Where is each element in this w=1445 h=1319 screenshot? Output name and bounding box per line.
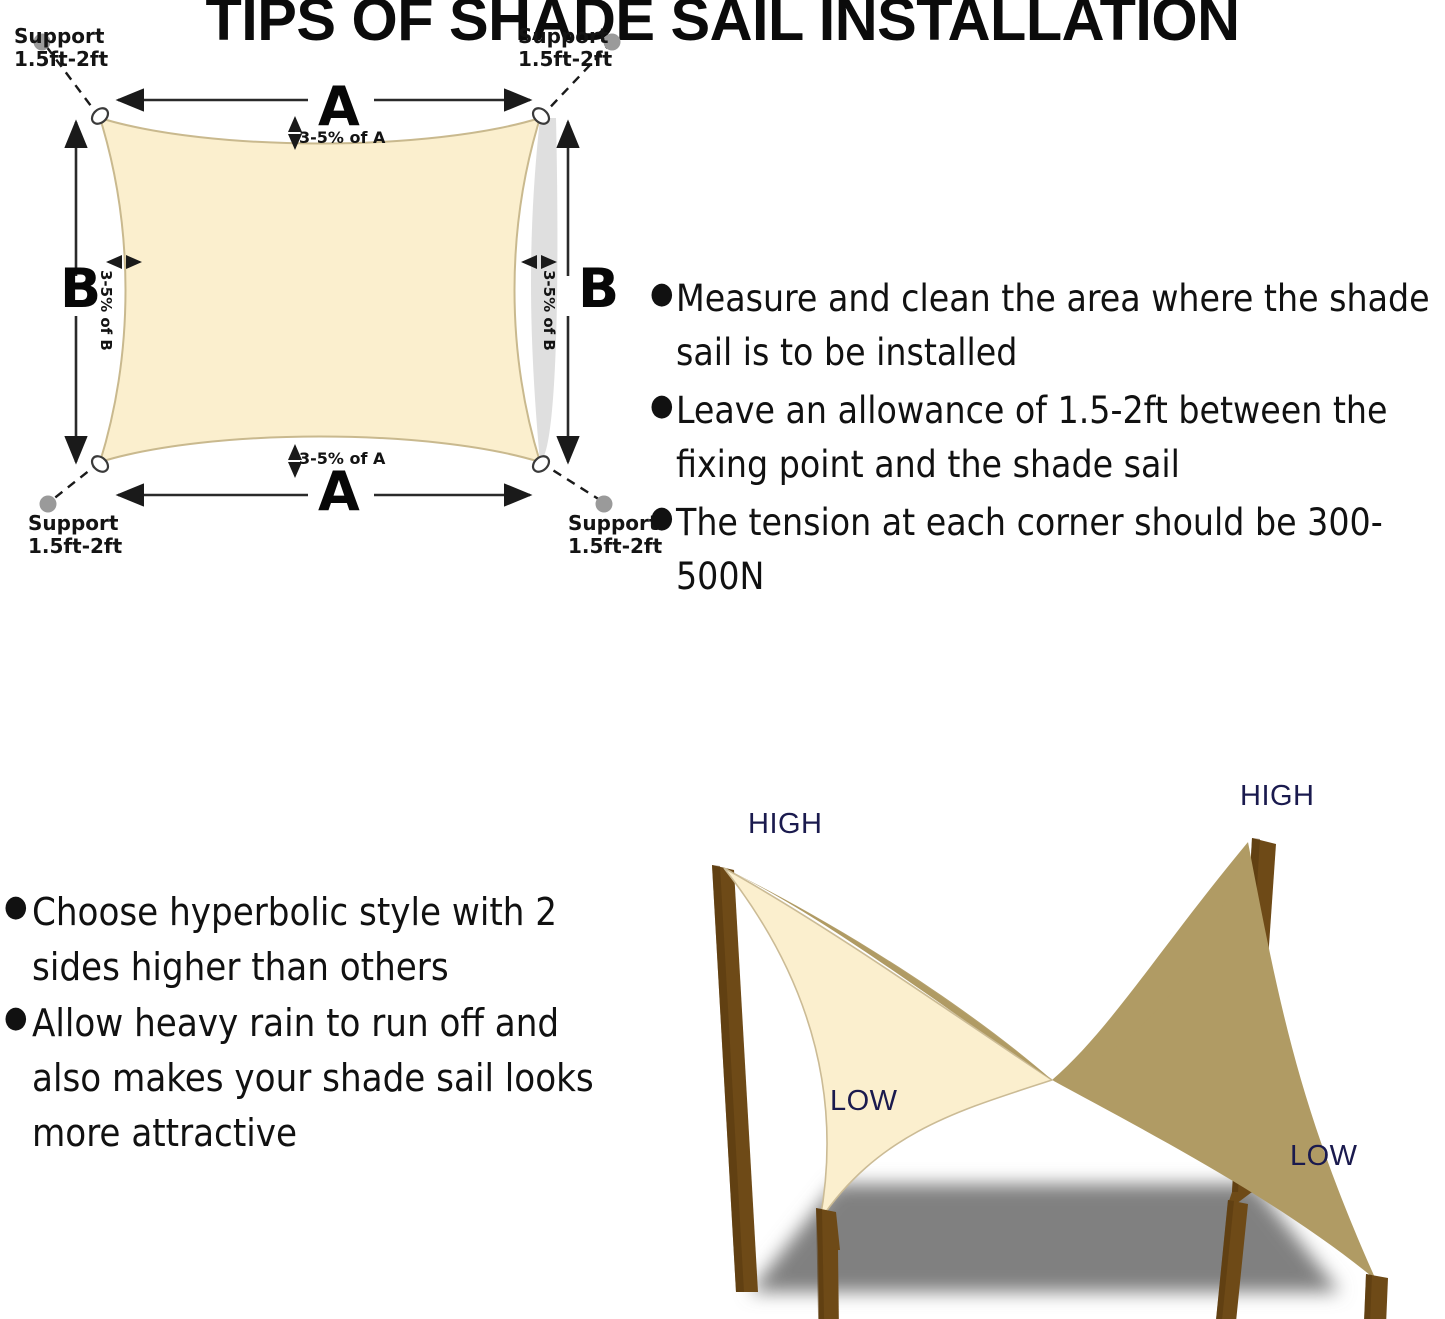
hyperbolic-sail-diagram: HIGH HIGH LOW LOW	[640, 780, 1445, 1319]
dimension-letter-b-left: B	[60, 262, 101, 316]
list-item-label: Measure and clean the area where the sha…	[676, 272, 1445, 380]
bullet-dot-icon: ●	[650, 272, 676, 316]
curve-callout-left: 3-5% of B	[97, 270, 115, 351]
support-label-line2: 1.5ft-2ft	[14, 48, 108, 71]
curve-callout-right: 3-5% of B	[540, 270, 558, 351]
curve-callout-bottom: 3-5% of A	[299, 449, 385, 468]
list-item: ● The tension at each corner should be 3…	[650, 496, 1445, 604]
dimension-letter-a-top: A	[318, 80, 360, 134]
support-label-top-right: Support 1.5ft-2ft	[518, 25, 612, 71]
bullet-dot-icon: ●	[4, 996, 32, 1040]
label-high-left: HIGH	[748, 808, 823, 841]
list-item: ● Leave an allowance of 1.5-2ft between …	[650, 384, 1445, 492]
curve-callout-top: 3-5% of A	[299, 128, 385, 147]
post-low-right	[1360, 1274, 1388, 1319]
rectangle-sail-diagram: Support 1.5ft-2ft Support 1.5ft-2ft Supp…	[0, 0, 660, 580]
label-low-left: LOW	[830, 1085, 898, 1118]
support-label-top-left: Support 1.5ft-2ft	[14, 25, 108, 71]
list-item: ● Measure and clean the area where the s…	[650, 272, 1445, 380]
support-label-line1: Support	[28, 512, 122, 535]
list-item: ● Allow heavy rain to run off and also m…	[4, 996, 624, 1160]
label-low-right: LOW	[1290, 1140, 1358, 1173]
bullet-dot-icon: ●	[650, 496, 676, 540]
label-high-right: HIGH	[1240, 780, 1315, 813]
list-item-label: Allow heavy rain to run off and also mak…	[32, 996, 624, 1160]
support-label-line1: Support	[518, 25, 612, 48]
support-label-bottom-left: Support 1.5ft-2ft	[28, 512, 122, 558]
support-label-line1: Support	[14, 25, 108, 48]
support-point-bottom-right	[596, 496, 613, 513]
bullet-dot-icon: ●	[650, 384, 676, 428]
support-label-line2: 1.5ft-2ft	[568, 535, 662, 558]
list-item-label: The tension at each corner should be 300…	[676, 496, 1445, 604]
list-item: ● Choose hyperbolic style with 2 sides h…	[4, 885, 624, 994]
bullet-dot-icon: ●	[4, 885, 32, 929]
style-tips-list: ● Choose hyperbolic style with 2 sides h…	[4, 885, 624, 1163]
support-label-line2: 1.5ft-2ft	[28, 535, 122, 558]
support-label-line2: 1.5ft-2ft	[518, 48, 612, 71]
support-label-bottom-right: Support 1.5ft-2ft	[568, 512, 662, 558]
installation-tips-list: ● Measure and clean the area where the s…	[650, 272, 1445, 608]
list-item-label: Choose hyperbolic style with 2 sides hig…	[32, 885, 624, 994]
dimension-letter-a-bottom: A	[318, 465, 360, 519]
support-label-line1: Support	[568, 512, 662, 535]
support-point-bottom-left	[40, 496, 57, 513]
hyperbolic-sail-graphic	[640, 780, 1445, 1319]
list-item-label: Leave an allowance of 1.5-2ft between th…	[676, 384, 1445, 492]
dimension-letter-b-right: B	[578, 262, 619, 316]
